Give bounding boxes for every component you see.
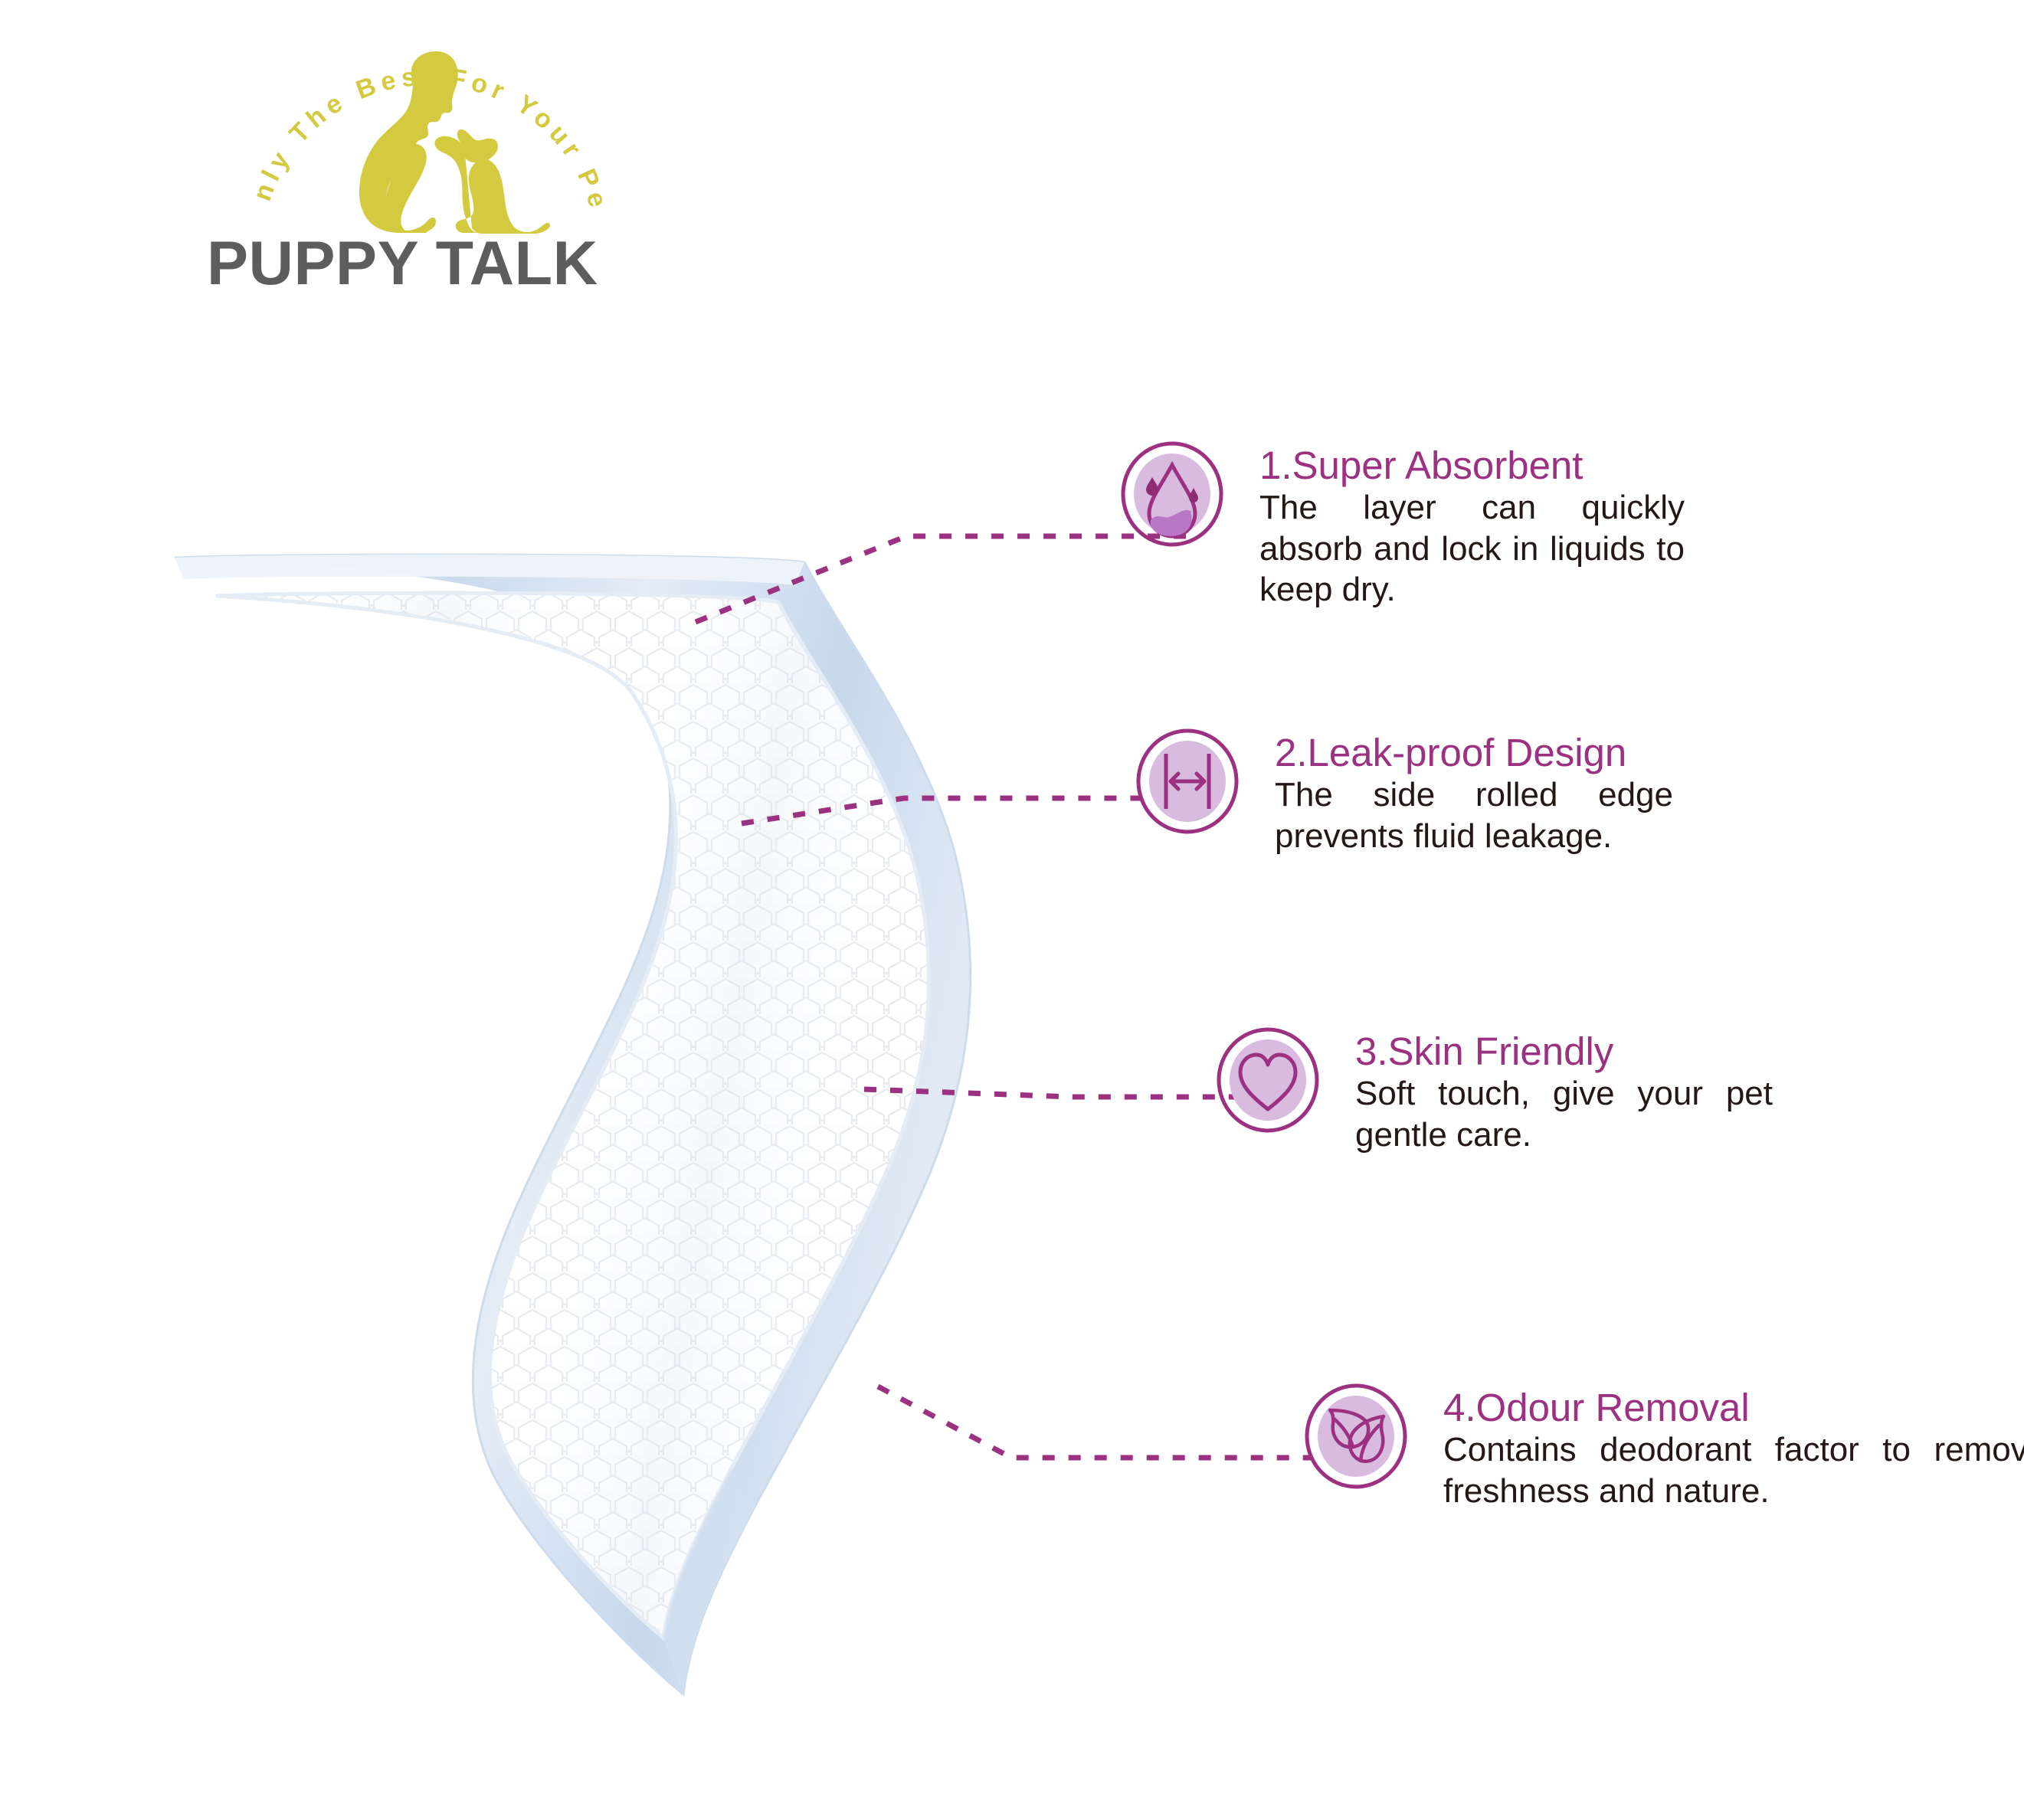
dog-silhouette-icon — [434, 129, 550, 234]
width-arrow-icon — [1134, 728, 1241, 835]
feature-desc-4: Contains deodorant factor to remove odou… — [1443, 1429, 2024, 1511]
feature-title-2: 2.Leak-proof Design — [1275, 731, 1673, 774]
feature-text-block-3: 3.Skin Friendly Soft touch, give your pe… — [1355, 1026, 1773, 1155]
leaves-icon — [1302, 1383, 1410, 1490]
product-pad-illustration — [130, 536, 1279, 1762]
feature-desc-2: The side rolled edge prevents fluid leak… — [1275, 774, 1673, 856]
feature-icon-wrapper-3 — [1214, 1026, 1321, 1134]
brand-name: PUPPY TALK — [207, 228, 682, 300]
feature-title-3: 3.Skin Friendly — [1355, 1029, 1773, 1073]
feature-title-1: 1.Super Absorbent — [1259, 444, 1685, 487]
feature-item-leak-proof-design: 2.Leak-proof Design The side rolled edge… — [1134, 728, 1673, 856]
feature-desc-3: Soft touch, give your pet gentle care. — [1355, 1073, 1773, 1155]
feature-icon-wrapper-4 — [1302, 1383, 1410, 1490]
feature-text-block-2: 2.Leak-proof Design The side rolled edge… — [1275, 728, 1673, 856]
feature-item-odour-removal: 4.Odour Removal Contains deodorant facto… — [1302, 1383, 2024, 1511]
water-drop-icon — [1118, 440, 1226, 548]
brand-logo: Only The Best For Your Pet PUPPY TALK — [207, 8, 682, 314]
feature-item-super-absorbent: 1.Super Absorbent The layer can quickly … — [1118, 440, 1685, 610]
heart-icon — [1214, 1026, 1321, 1134]
feature-text-block-1: 1.Super Absorbent The layer can quickly … — [1259, 440, 1685, 610]
feature-desc-1: The layer can quickly absorb and lock in… — [1259, 487, 1685, 610]
logo-mark: Only The Best For Your Pet — [230, 8, 628, 237]
feature-icon-wrapper-1 — [1118, 440, 1226, 548]
infographic-page: Only The Best For Your Pet PUPPY TALK — [0, 0, 2024, 1820]
feature-text-block-4: 4.Odour Removal Contains deodorant facto… — [1443, 1383, 2024, 1511]
feature-icon-wrapper-2 — [1134, 728, 1241, 835]
feature-item-skin-friendly: 3.Skin Friendly Soft touch, give your pe… — [1214, 1026, 1773, 1155]
feature-title-4: 4.Odour Removal — [1443, 1386, 2024, 1429]
